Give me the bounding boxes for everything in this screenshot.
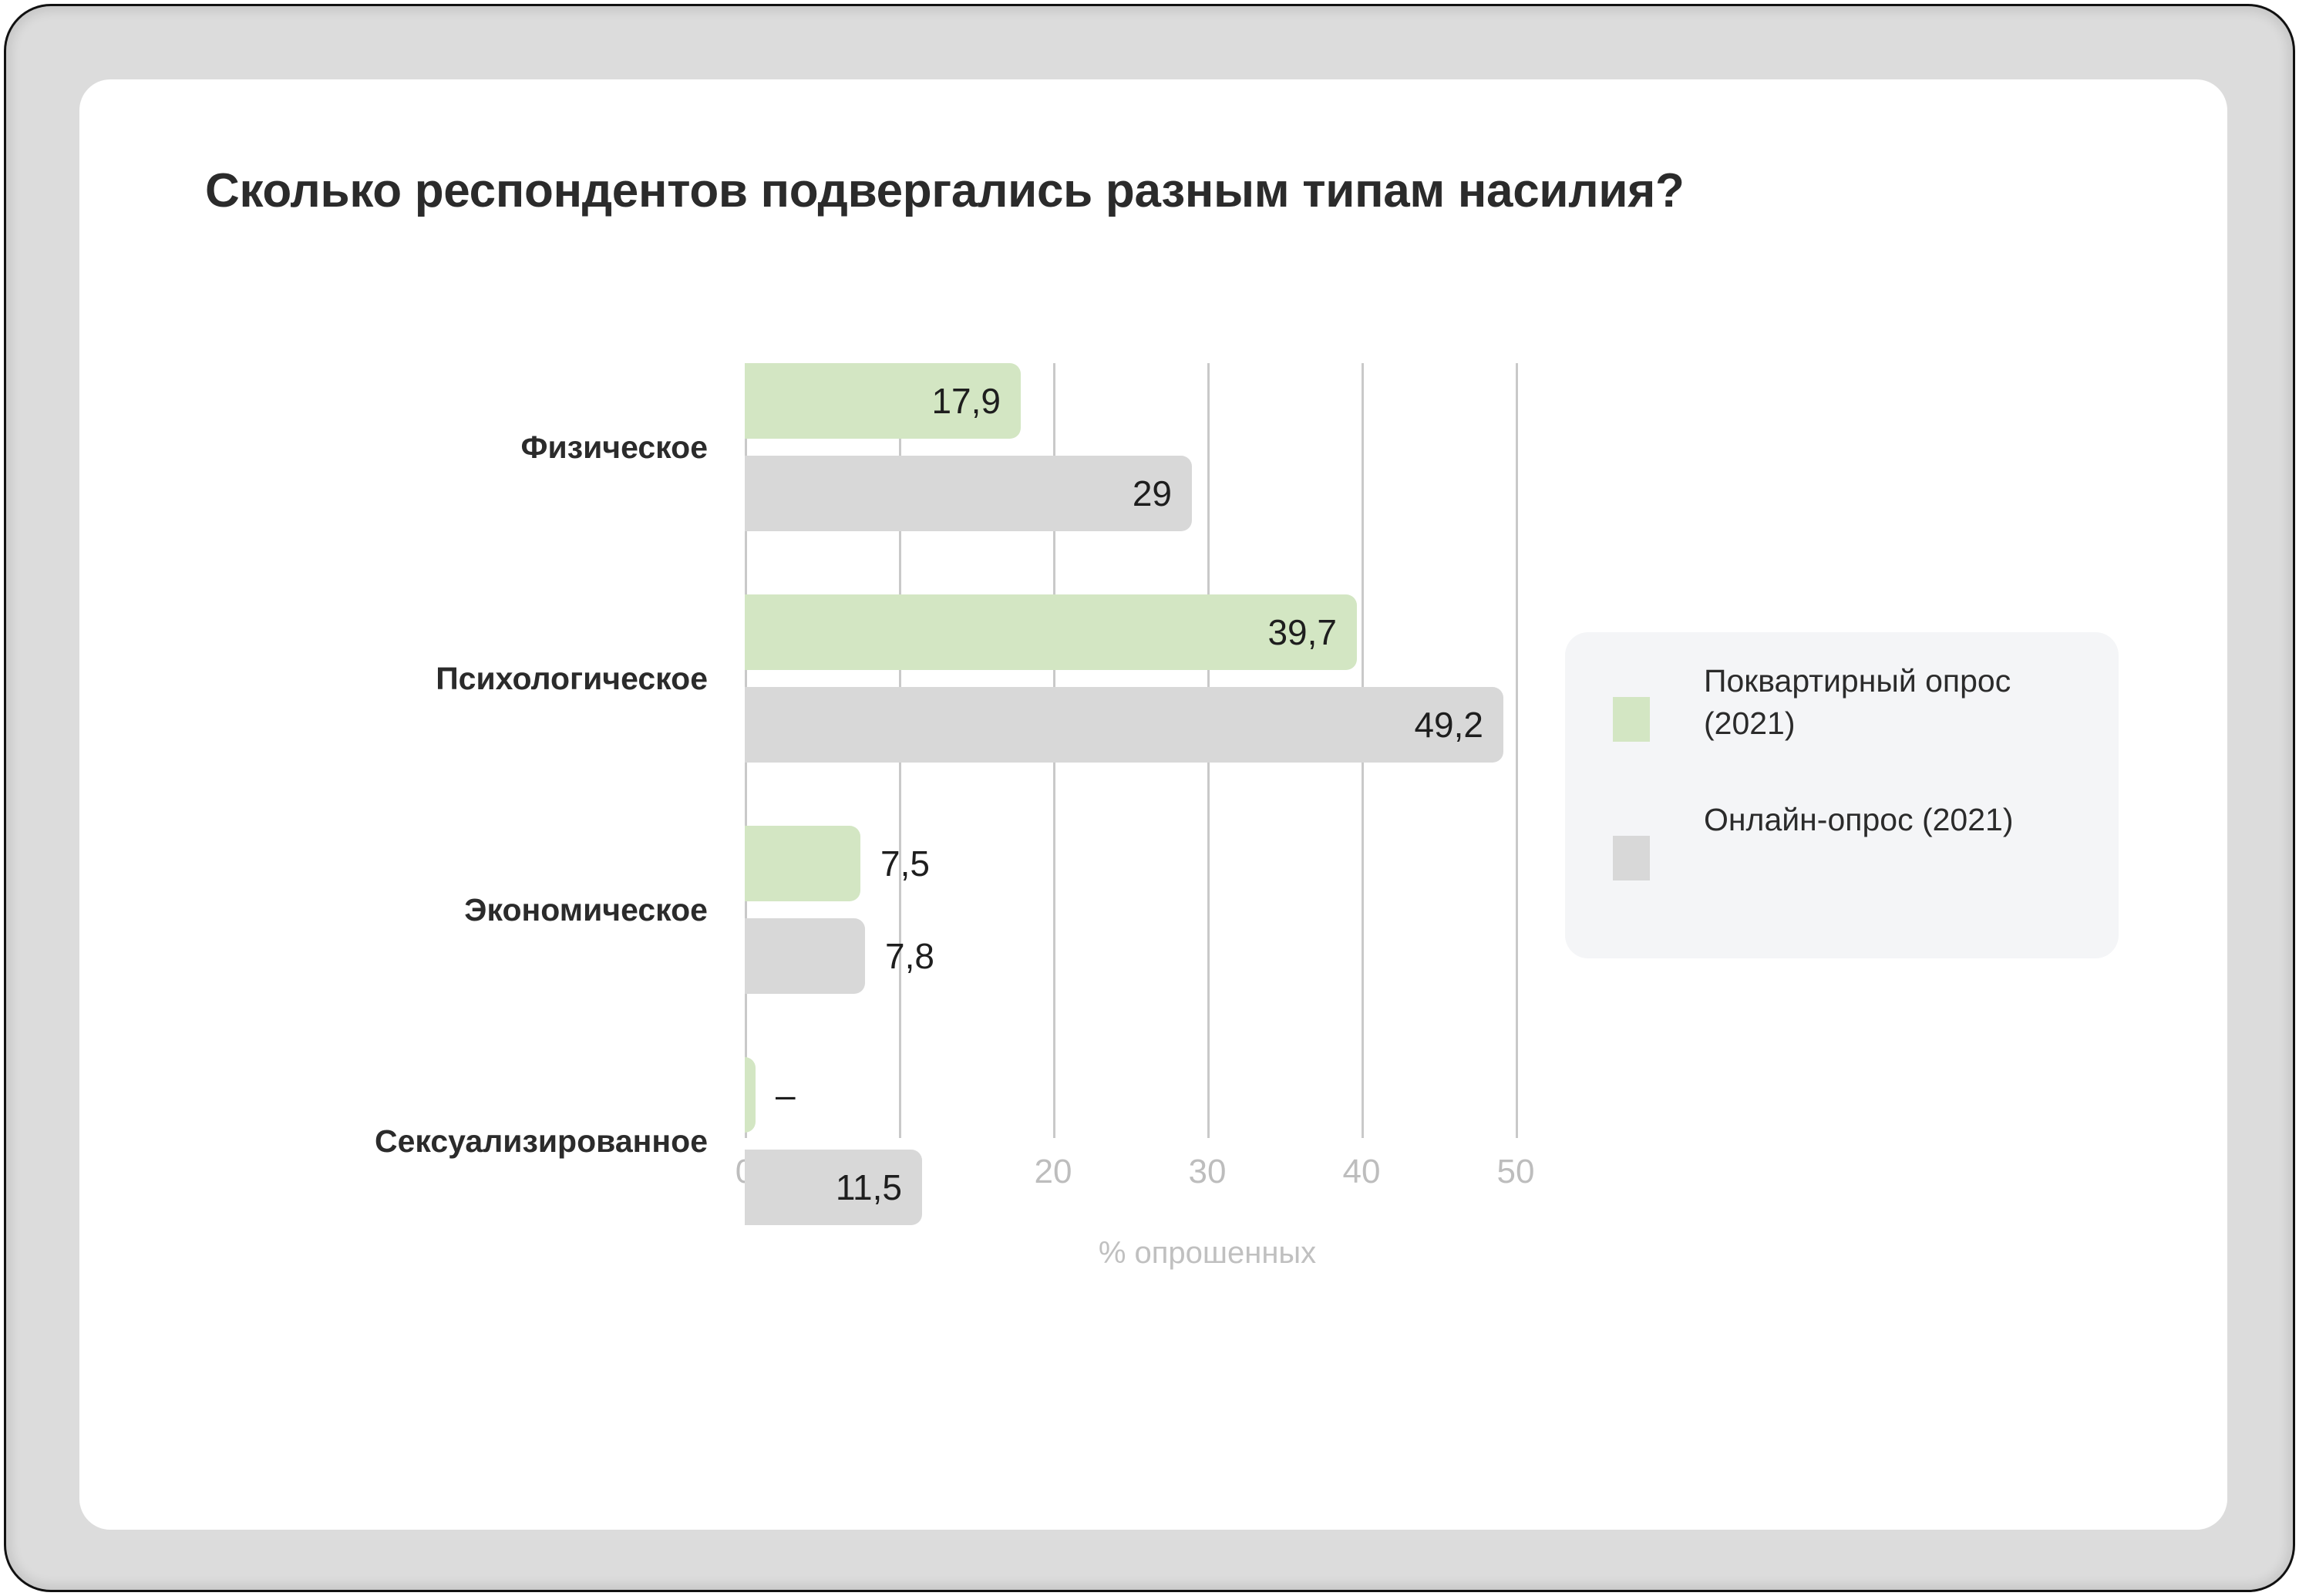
category-label: Физическое: [14, 432, 708, 463]
bar[interactable]: [745, 826, 860, 901]
x-tick-label: 40: [1315, 1153, 1408, 1191]
x-tick-label: 30: [1161, 1153, 1254, 1191]
bar-value-label: 7,8: [885, 918, 934, 994]
bar-value-label: 17,9: [745, 363, 1001, 439]
bar[interactable]: [745, 918, 865, 994]
category-label: Экономическое: [14, 894, 708, 926]
bar-value-label: 39,7: [745, 594, 1337, 670]
legend-swatch-icon: [1613, 697, 1650, 742]
legend-item-0[interactable]: Поквартирный опрос (2021): [1613, 660, 2035, 746]
x-tick-label: 20: [1007, 1153, 1099, 1191]
bar[interactable]: [745, 1057, 756, 1133]
bar-value-label: 7,5: [880, 826, 930, 901]
legend-swatch-icon: [1613, 836, 1650, 880]
chart-card: Сколько респондентов подвергались разным…: [79, 79, 2227, 1530]
bar-value-label: 49,2: [745, 687, 1483, 763]
legend-item-1[interactable]: Онлайн-опрос (2021): [1613, 799, 2035, 880]
bar-value-label: 29: [745, 456, 1172, 531]
category-label: Сексуализированное: [14, 1126, 708, 1157]
outer-frame: Сколько респондентов подвергались разным…: [6, 6, 2293, 1590]
bar-value-label: 11,5: [745, 1150, 902, 1225]
category-label: Психологическое: [14, 663, 708, 695]
chart-legend: Поквартирный опрос (2021) Онлайн-опрос (…: [1565, 632, 2119, 958]
bar-value-label: –: [776, 1057, 796, 1133]
x-tick-label: 50: [1469, 1153, 1562, 1191]
legend-item-label: Онлайн-опрос (2021): [1704, 799, 2035, 841]
legend-item-label: Поквартирный опрос (2021): [1704, 660, 2035, 746]
x-axis-label: % опрошенных: [745, 1236, 1670, 1271]
gridline: [1516, 363, 1518, 1138]
